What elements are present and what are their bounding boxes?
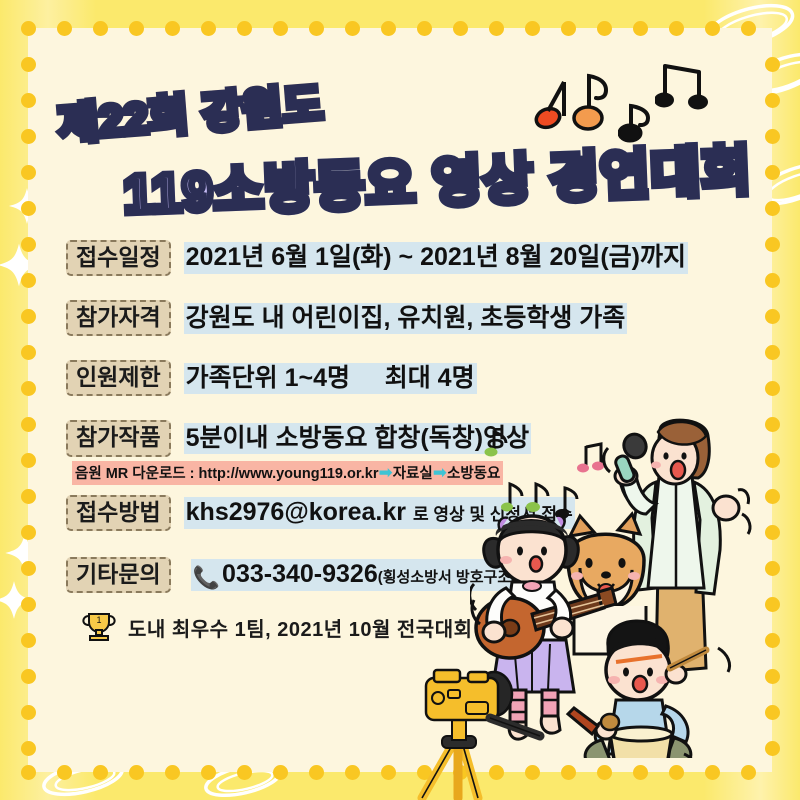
border-dot (765, 417, 780, 432)
border-dot (237, 765, 252, 780)
info-row: 참가작품 5분이내 소방동요 합창(독창)영상 (66, 420, 706, 456)
footnote-row: 1 도내 최우수 1팀, 2021년 10월 전국대회 참가 (78, 609, 706, 645)
border-dot (765, 741, 780, 756)
border-dot (21, 453, 36, 468)
border-dot (21, 741, 36, 756)
border-dot (21, 561, 36, 576)
mr-download-line[interactable]: 음원 MR 다운로드 : http://www.young119.or.kr➡자… (72, 461, 503, 485)
border-dot (381, 765, 396, 780)
arrow-right-icon: ➡ (433, 463, 447, 482)
info-row: 접수방법 khs2976@korea.kr 로 영상 및 신청서 접수 (66, 495, 706, 531)
border-dot (21, 669, 36, 684)
border-dot (765, 309, 780, 324)
info-row: 참가자격 강원도 내 어린이집, 유치원, 초등학생 가족 (66, 300, 706, 336)
border-dot (417, 765, 432, 780)
border-dot (345, 765, 360, 780)
mr-step-2: 소방동요 (447, 466, 500, 482)
border-dot (129, 765, 144, 780)
row-label-contact: 기타문의 (66, 557, 171, 593)
border-dot (21, 633, 36, 648)
row-label-eligibility: 참가자격 (66, 300, 171, 336)
border-dot (21, 381, 36, 396)
border-dot (21, 237, 36, 252)
border-dot (165, 765, 180, 780)
row-value-eligibility: 강원도 내 어린이집, 유치원, 초등학생 가족 (184, 303, 628, 334)
border-dot (561, 765, 576, 780)
border-dot (489, 765, 504, 780)
border-dot (633, 765, 648, 780)
border-dot (93, 765, 108, 780)
border-dot (525, 765, 540, 780)
border-dot (57, 765, 72, 780)
border-dot (765, 273, 780, 288)
phone-handset-icon: 📞 (193, 564, 220, 592)
border-dot (21, 273, 36, 288)
info-row: 인원제한 가족단위 1~4명 최대 4명 (66, 360, 706, 396)
border-dot (21, 417, 36, 432)
mr-download-row: 음원 MR 다운로드 : http://www.young119.or.kr➡자… (72, 461, 706, 485)
border-dot (201, 765, 216, 780)
border-dot (765, 525, 780, 540)
border-dot (21, 489, 36, 504)
svg-text:1: 1 (96, 615, 101, 625)
border-dot (21, 309, 36, 324)
border-dot (765, 561, 780, 576)
border-dot (21, 525, 36, 540)
border-dot (765, 381, 780, 396)
info-row: 기타문의 📞033-340-9326(횡성소방서 방호구조과) (66, 557, 706, 593)
border-dot (765, 345, 780, 360)
contact-phone[interactable]: 033-340-9326 (222, 560, 378, 588)
border-dot (741, 765, 756, 780)
border-dot (453, 765, 468, 780)
border-dot (765, 633, 780, 648)
border-dot (309, 765, 324, 780)
mr-step-1: 자료실 (393, 466, 433, 482)
border-dot (21, 705, 36, 720)
poster-canvas: 제22회 강원도 119소방동요 영상 경연대회 접수일정 2021년 6월 1… (0, 0, 800, 800)
apply-suffix: 로 영상 및 신청서 접수 (413, 505, 573, 524)
border-dot (765, 237, 780, 252)
apply-email[interactable]: khs2976@korea.kr (186, 498, 406, 526)
border-dot (765, 705, 780, 720)
row-label-schedule: 접수일정 (66, 240, 171, 276)
row-value-apply: khs2976@korea.kr 로 영상 및 신청서 접수 (184, 497, 575, 528)
border-dot (597, 765, 612, 780)
arrow-right-icon: ➡ (378, 463, 392, 482)
border-dot (765, 489, 780, 504)
border-dot (273, 765, 288, 780)
row-value-participants: 가족단위 1~4명 최대 4명 (184, 363, 477, 394)
row-value-contact: 📞033-340-9326(횡성소방서 방호구조과) (191, 559, 532, 592)
row-label-entry: 참가작품 (66, 420, 171, 456)
poster-title: 제22회 강원도 119소방동요 영상 경연대회 (28, 28, 772, 203)
footnote-text: 도내 최우수 1팀, 2021년 10월 전국대회 참가 (128, 613, 516, 642)
border-dot (21, 597, 36, 612)
border-dot (705, 765, 720, 780)
row-value-entry: 5분이내 소방동요 합창(독창)영상 (184, 423, 531, 454)
border-dot (21, 765, 36, 780)
info-rows: 접수일정 2021년 6월 1일(화) ~ 2021년 8월 20일(금)까지 … (66, 240, 706, 645)
border-dot (765, 597, 780, 612)
title-line-1: 제22회 강원도 (56, 70, 326, 153)
mr-download-url: 음원 MR 다운로드 : http://www.young119.or.kr (75, 466, 378, 482)
trophy-icon: 1 (78, 609, 120, 645)
row-label-participants: 인원제한 (66, 360, 171, 396)
border-dot (669, 765, 684, 780)
info-row: 접수일정 2021년 6월 1일(화) ~ 2021년 8월 20일(금)까지 (66, 240, 706, 276)
contact-department: (횡성소방서 방호구조과) (378, 569, 530, 586)
border-dot (765, 669, 780, 684)
border-dot (21, 345, 36, 360)
row-value-schedule: 2021년 6월 1일(화) ~ 2021년 8월 20일(금)까지 (184, 242, 688, 273)
border-dot (765, 453, 780, 468)
row-label-apply: 접수방법 (66, 495, 171, 531)
